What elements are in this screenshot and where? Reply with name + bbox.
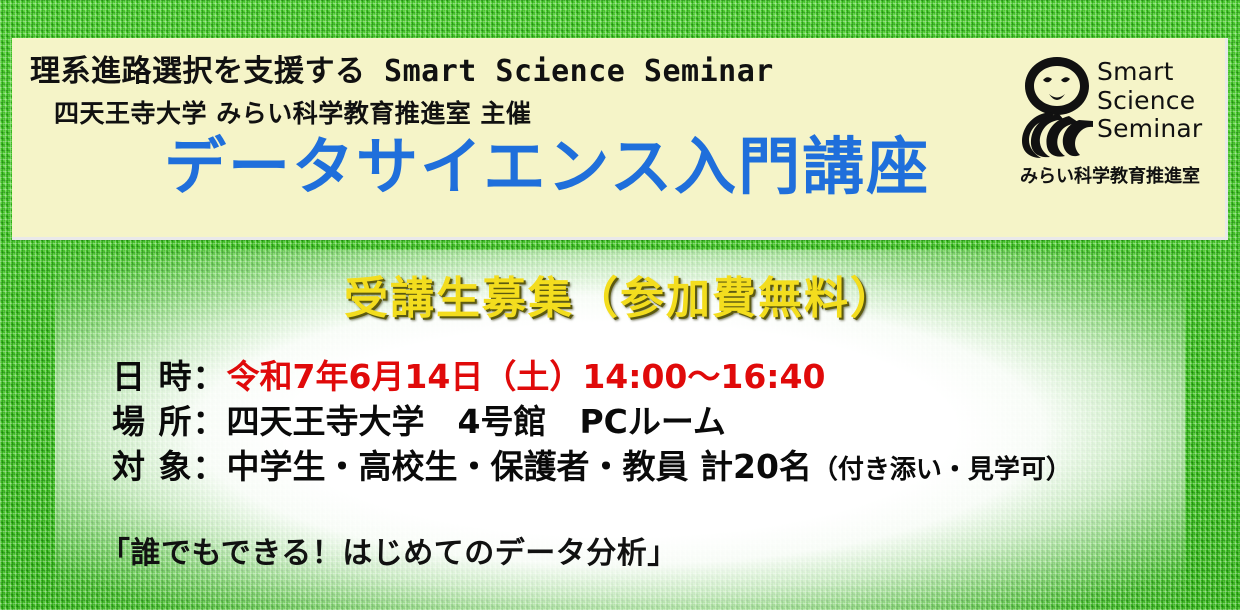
banner-tagline: 理系進路選択を支援する Smart Science Seminar	[30, 46, 774, 90]
poster-flyer: 理系進路選択を支援する Smart Science Seminar 四天王寺大学…	[0, 0, 1240, 610]
info-row-audience: 対 象：中学生・高校生・保護者・教員 計20名（付き添い・見学可）	[112, 444, 1072, 493]
logo-word-smart: Smart	[1097, 58, 1202, 87]
info-label-datetime: 日 時：	[112, 357, 227, 396]
info-row-venue: 場 所：四天王寺大学 4号館 PCルーム	[112, 399, 1072, 444]
smart-science-seminar-mark-icon	[1019, 54, 1093, 158]
info-value-datetime: 令和7年6月14日（土）14:00〜16:40	[227, 357, 826, 396]
event-info-block: 日 時：令和7年6月14日（土）14:00〜16:40 場 所：四天王寺大学 4…	[112, 354, 1072, 493]
info-note-audience: （付き添い・見学可）	[812, 455, 1072, 485]
logo-word-science: Science	[1097, 87, 1202, 116]
info-value-audience: 中学生・高校生・保護者・教員 計20名	[227, 447, 812, 486]
page-title: データサイエンス入門講座	[164, 136, 930, 198]
recruit-headline: 受講生募集（参加費無料）	[0, 262, 1240, 326]
logo-word-seminar: Seminar	[1097, 115, 1202, 144]
logo-wordmark: Smart Science Seminar	[1097, 58, 1202, 144]
info-label-venue: 場 所：	[112, 402, 227, 441]
banner-organizer: 四天王寺大学 みらい科学教育推進室 主催	[54, 94, 531, 130]
logo-subtitle: みらい科学教育推進室	[1017, 162, 1203, 188]
info-row-datetime: 日 時：令和7年6月14日（土）14:00〜16:40	[112, 354, 1072, 399]
info-value-venue: 四天王寺大学 4号館 PCルーム	[227, 402, 726, 441]
course-subtitle-quote: 「誰でもできる！はじめてのデータ分析」	[100, 528, 678, 572]
header-banner: 理系進路選択を支援する Smart Science Seminar 四天王寺大学…	[12, 38, 1228, 240]
logo: Smart Science Seminar みらい科学教育推進室	[1015, 48, 1203, 190]
info-label-audience: 対 象：	[112, 447, 227, 486]
